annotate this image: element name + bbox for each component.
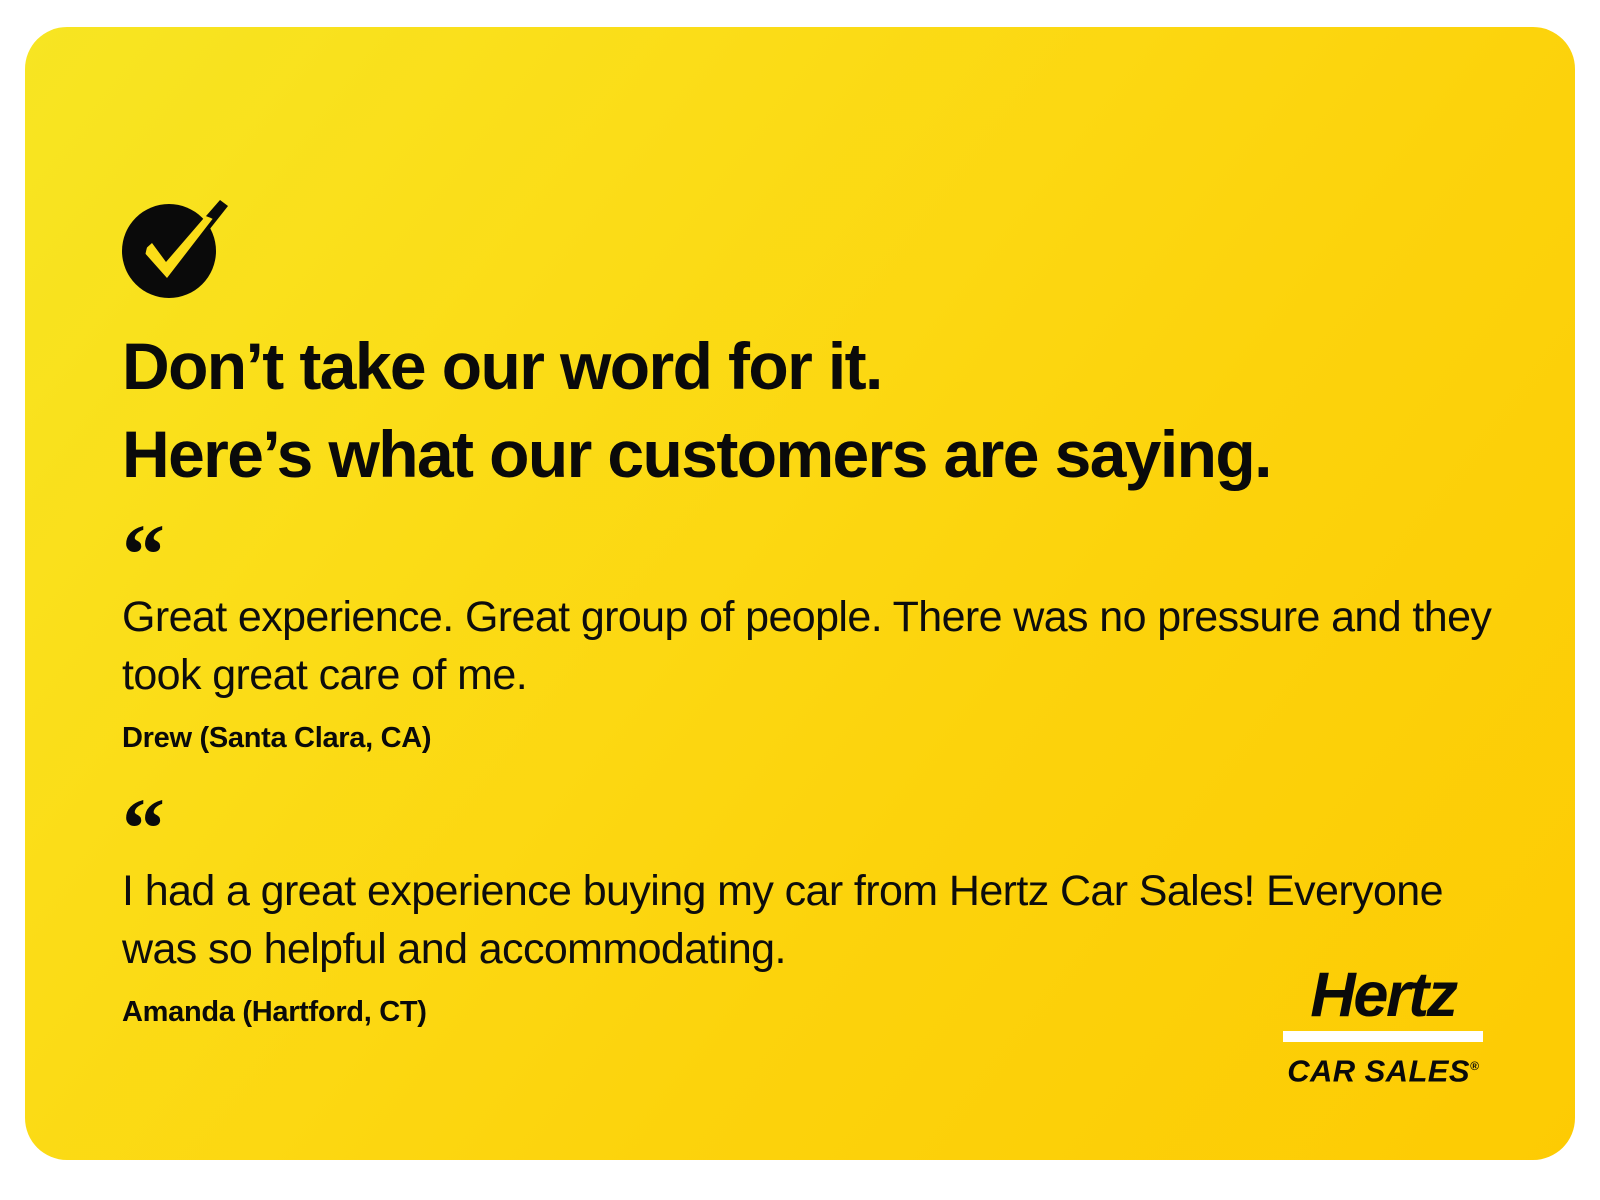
testimonial-item: “ Great experience. Great group of peopl… (122, 532, 1502, 758)
quote-open-icon: “ (122, 532, 1502, 572)
hertz-car-sales-logo: Hertz CAR SALES® (1283, 963, 1483, 1088)
testimonial-quote: I had a great experience buying my car f… (122, 862, 1502, 978)
headline-line-1: Don’t take our word for it. (122, 322, 1522, 410)
testimonial-card: Don’t take our word for it. Here’s what … (25, 27, 1575, 1160)
check-circle-icon (120, 194, 230, 304)
testimonial-list: “ Great experience. Great group of peopl… (122, 532, 1502, 1032)
logo-subwordmark: CAR SALES® (1283, 1049, 1483, 1088)
logo-wordmark: Hertz (1283, 963, 1483, 1027)
registered-trademark-icon: ® (1470, 1059, 1479, 1073)
headline-line-2: Here’s what our customers are saying. (122, 410, 1522, 498)
quote-open-icon: “ (122, 806, 1502, 846)
page-title: Don’t take our word for it. Here’s what … (122, 322, 1522, 498)
logo-subwordmark-text: CAR SALES (1287, 1053, 1470, 1088)
testimonial-attribution: Drew (Santa Clara, CA) (122, 718, 1502, 758)
logo-rule-divider (1283, 1031, 1483, 1042)
testimonial-quote: Great experience. Great group of people.… (122, 588, 1502, 704)
